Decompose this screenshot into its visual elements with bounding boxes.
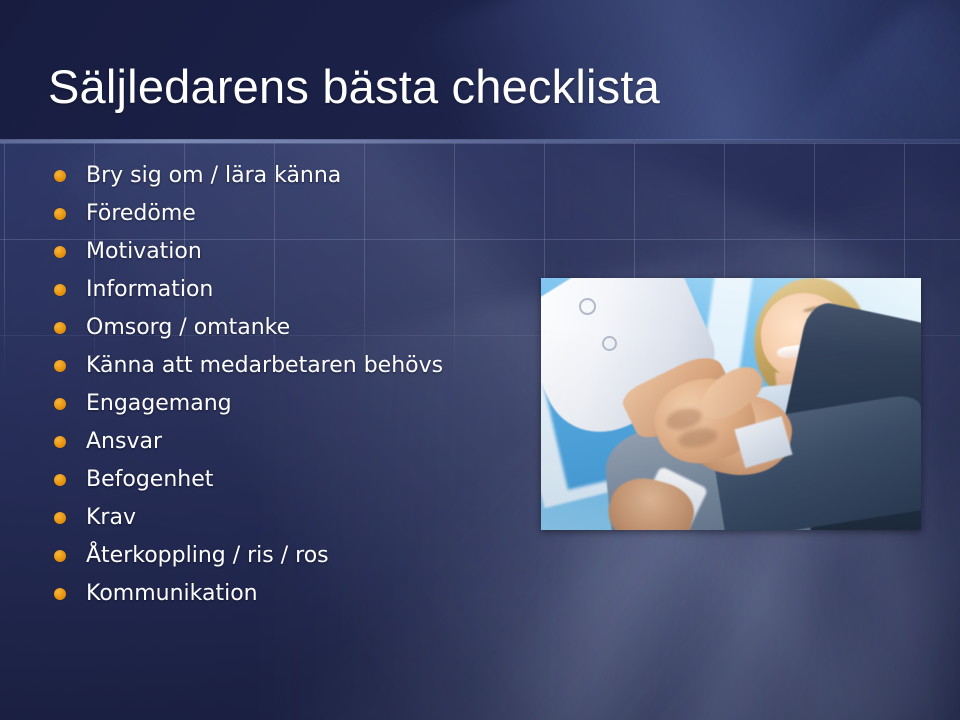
list-item-label: Känna att medarbetaren behövs: [86, 353, 443, 379]
bullet-dot-icon: [54, 398, 66, 410]
page-title: Säljledarens bästa checklista: [48, 58, 660, 116]
bullet-dot-icon: [54, 170, 66, 182]
bullet-dot-icon: [54, 436, 66, 448]
handshake-photo: [541, 278, 921, 530]
list-item: Befogenhet: [46, 461, 566, 499]
bullet-dot-icon: [54, 588, 66, 600]
list-item: Känna att medarbetaren behövs: [46, 347, 566, 385]
bullet-dot-icon: [54, 208, 66, 220]
presentation-slide: Säljledarens bästa checklista Bry sig om…: [0, 0, 960, 720]
list-item-label: Återkoppling / ris / ros: [86, 543, 329, 569]
list-item-label: Föredöme: [86, 201, 196, 227]
list-item-label: Krav: [86, 505, 136, 531]
checklist: Bry sig om / lära känna Föredöme Motivat…: [46, 157, 566, 613]
list-item: Återkoppling / ris / ros: [46, 537, 566, 575]
list-item: Bry sig om / lära känna: [46, 157, 566, 195]
list-item: Föredöme: [46, 195, 566, 233]
list-item-label: Befogenhet: [86, 467, 213, 493]
bullet-dot-icon: [54, 512, 66, 524]
list-item: Information: [46, 271, 566, 309]
title-divider-rule: [0, 139, 960, 143]
list-item: Krav: [46, 499, 566, 537]
bullet-dot-icon: [54, 284, 66, 296]
list-item: Engagemang: [46, 385, 566, 423]
list-item: Ansvar: [46, 423, 566, 461]
list-item: Omsorg / omtanke: [46, 309, 566, 347]
bullet-dot-icon: [54, 360, 66, 372]
bullet-dot-icon: [54, 322, 66, 334]
list-item: Motivation: [46, 233, 566, 271]
list-item-label: Information: [86, 277, 213, 303]
list-item-label: Engagemang: [86, 391, 232, 417]
list-item-label: Kommunikation: [86, 581, 258, 607]
list-item-label: Motivation: [86, 239, 202, 265]
bullet-dot-icon: [54, 550, 66, 562]
list-item-label: Omsorg / omtanke: [86, 315, 290, 341]
photo-light-overlay: [541, 278, 921, 530]
bullet-dot-icon: [54, 474, 66, 486]
list-item: Kommunikation: [46, 575, 566, 613]
bullet-dot-icon: [54, 246, 66, 258]
list-item-label: Ansvar: [86, 429, 162, 455]
list-item-label: Bry sig om / lära känna: [86, 163, 341, 189]
